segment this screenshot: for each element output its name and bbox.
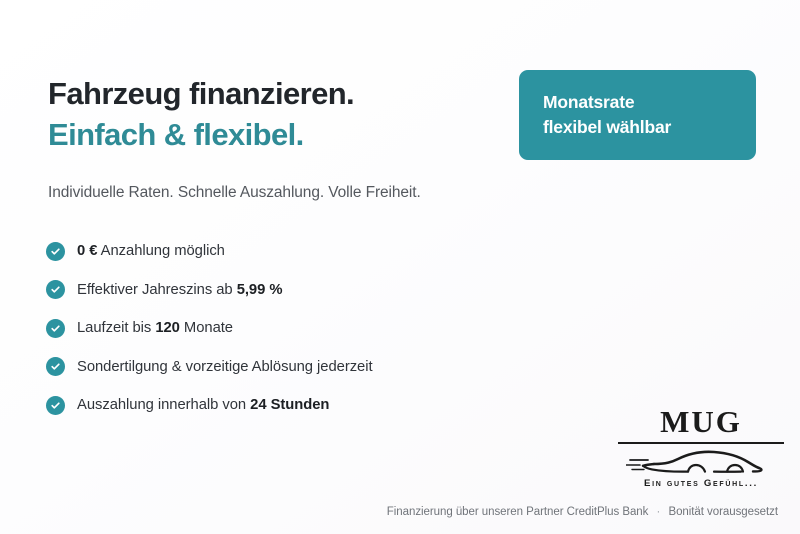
check-circle-icon xyxy=(46,319,65,338)
footer-credit-note: Bonität vorausgesetzt xyxy=(668,506,778,518)
list-item: Sondertilgung & vorzeitige Ablösung jede… xyxy=(46,356,516,378)
benefit-label: 0 € Anzahlung möglich xyxy=(77,243,225,259)
logo-divider xyxy=(618,442,784,444)
check-circle-icon xyxy=(46,357,65,376)
monthly-rate-badge: Monatsrate flexibel wählbar xyxy=(519,70,756,160)
benefits-list: 0 € Anzahlung möglich Effektiver Jahresz… xyxy=(46,240,516,433)
badge-line-1: Monatsrate xyxy=(543,90,732,115)
check-circle-icon xyxy=(46,396,65,415)
logo-wordmark: MUG xyxy=(618,406,784,437)
logo-tagline: Ein gutes Gefühl... xyxy=(618,478,784,489)
check-circle-icon xyxy=(46,242,65,261)
subheadline: Individuelle Raten. Schnelle Auszahlung.… xyxy=(48,184,421,202)
footer-disclaimer: Finanzierung über unseren Partner Credit… xyxy=(387,506,778,518)
benefit-label: Auszahlung innerhalb von 24 Stunden xyxy=(77,397,329,413)
footer-separator: · xyxy=(652,506,666,518)
benefit-label: Effektiver Jahreszins ab 5,99 % xyxy=(77,282,282,298)
footer-partner-text: Finanzierung über unseren Partner Credit… xyxy=(387,506,649,518)
headline-primary: Fahrzeug finanzieren. xyxy=(48,76,518,113)
car-silhouette-icon xyxy=(626,447,776,477)
list-item: 0 € Anzahlung möglich xyxy=(46,240,516,262)
list-item: Auszahlung innerhalb von 24 Stunden xyxy=(46,394,516,416)
badge-line-2: flexibel wählbar xyxy=(543,115,732,140)
benefit-label: Sondertilgung & vorzeitige Ablösung jede… xyxy=(77,359,373,375)
dealer-logo: MUG Ein gutes Gefühl... xyxy=(618,406,784,489)
headline-block: Fahrzeug finanzieren. Einfach & flexibel… xyxy=(48,76,518,153)
check-circle-icon xyxy=(46,280,65,299)
finance-promo-banner: Fahrzeug finanzieren. Einfach & flexibel… xyxy=(0,0,800,534)
list-item: Effektiver Jahreszins ab 5,99 % xyxy=(46,279,516,301)
headline-secondary: Einfach & flexibel. xyxy=(48,117,518,154)
list-item: Laufzeit bis 120 Monate xyxy=(46,317,516,339)
benefit-label: Laufzeit bis 120 Monate xyxy=(77,320,233,336)
